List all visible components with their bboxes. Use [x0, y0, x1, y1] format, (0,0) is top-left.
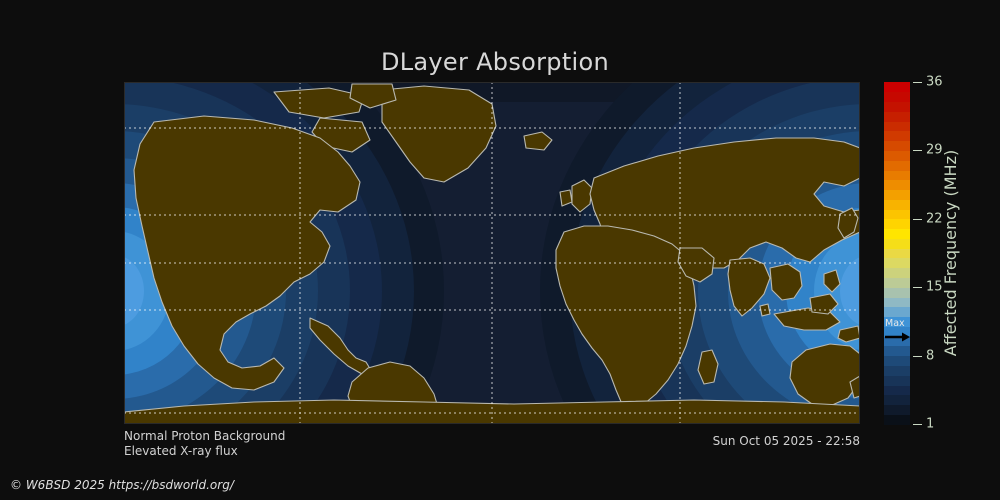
colorbar-band [884, 189, 910, 199]
colorbar-band [884, 121, 910, 131]
page-title: DLayer Absorption [0, 48, 990, 76]
colorbar-gradient [884, 82, 910, 424]
colorbar-band [884, 404, 910, 414]
colorbar-tick [913, 356, 922, 357]
colorbar-band [884, 277, 910, 287]
colorbar-band [884, 385, 910, 395]
colorbar-band [884, 229, 910, 239]
colorbar-band [884, 395, 910, 405]
world-map[interactable] [124, 82, 860, 424]
colorbar-tick [913, 219, 922, 220]
colorbar-band [884, 111, 910, 121]
max-arrow-icon [885, 332, 910, 342]
colorbar-tick-label: 1 [926, 418, 934, 431]
colorbar-band [884, 414, 910, 424]
status-block: Normal Proton Background Elevated X-ray … [124, 429, 285, 459]
colorbar-tick [913, 287, 922, 288]
colorbar-band [884, 82, 910, 92]
colorbar-band [884, 238, 910, 248]
colorbar-tick [913, 424, 922, 425]
map-panel[interactable] [124, 82, 860, 424]
colorbar-band [884, 102, 910, 112]
timestamp: Sun Oct 05 2025 - 22:58 [713, 434, 860, 449]
max-marker-label: Max [885, 319, 905, 329]
colorbar-band [884, 365, 910, 375]
colorbar-band [884, 180, 910, 190]
colorbar-band [884, 92, 910, 102]
colorbar-band [884, 170, 910, 180]
colorbar-tick [913, 150, 922, 151]
colorbar-band [884, 307, 910, 317]
copyright-footer: © W6BSD 2025 https://bsdworld.org/ [10, 478, 234, 492]
colorbar-band [884, 248, 910, 258]
colorbar[interactable]: Max 1815222936 [884, 82, 910, 424]
colorbar-band [884, 375, 910, 385]
colorbar-max-marker: Max [884, 321, 910, 347]
colorbar-band [884, 258, 910, 268]
colorbar-band [884, 346, 910, 356]
status-proton-background: Normal Proton Background [124, 429, 285, 444]
colorbar-band [884, 297, 910, 307]
colorbar-band [884, 356, 910, 366]
colorbar-axis-label: Affected Frequency (MHz) [940, 82, 962, 424]
colorbar-band [884, 219, 910, 229]
colorbar-band [884, 209, 910, 219]
colorbar-band [884, 199, 910, 209]
colorbar-band [884, 131, 910, 141]
colorbar-band [884, 287, 910, 297]
colorbar-band [884, 141, 910, 151]
colorbar-tick-label: 8 [926, 349, 934, 362]
colorbar-band [884, 160, 910, 170]
colorbar-tick [913, 82, 922, 83]
status-xray-flux: Elevated X-ray flux [124, 444, 285, 459]
colorbar-band [884, 268, 910, 278]
colorbar-band [884, 150, 910, 160]
